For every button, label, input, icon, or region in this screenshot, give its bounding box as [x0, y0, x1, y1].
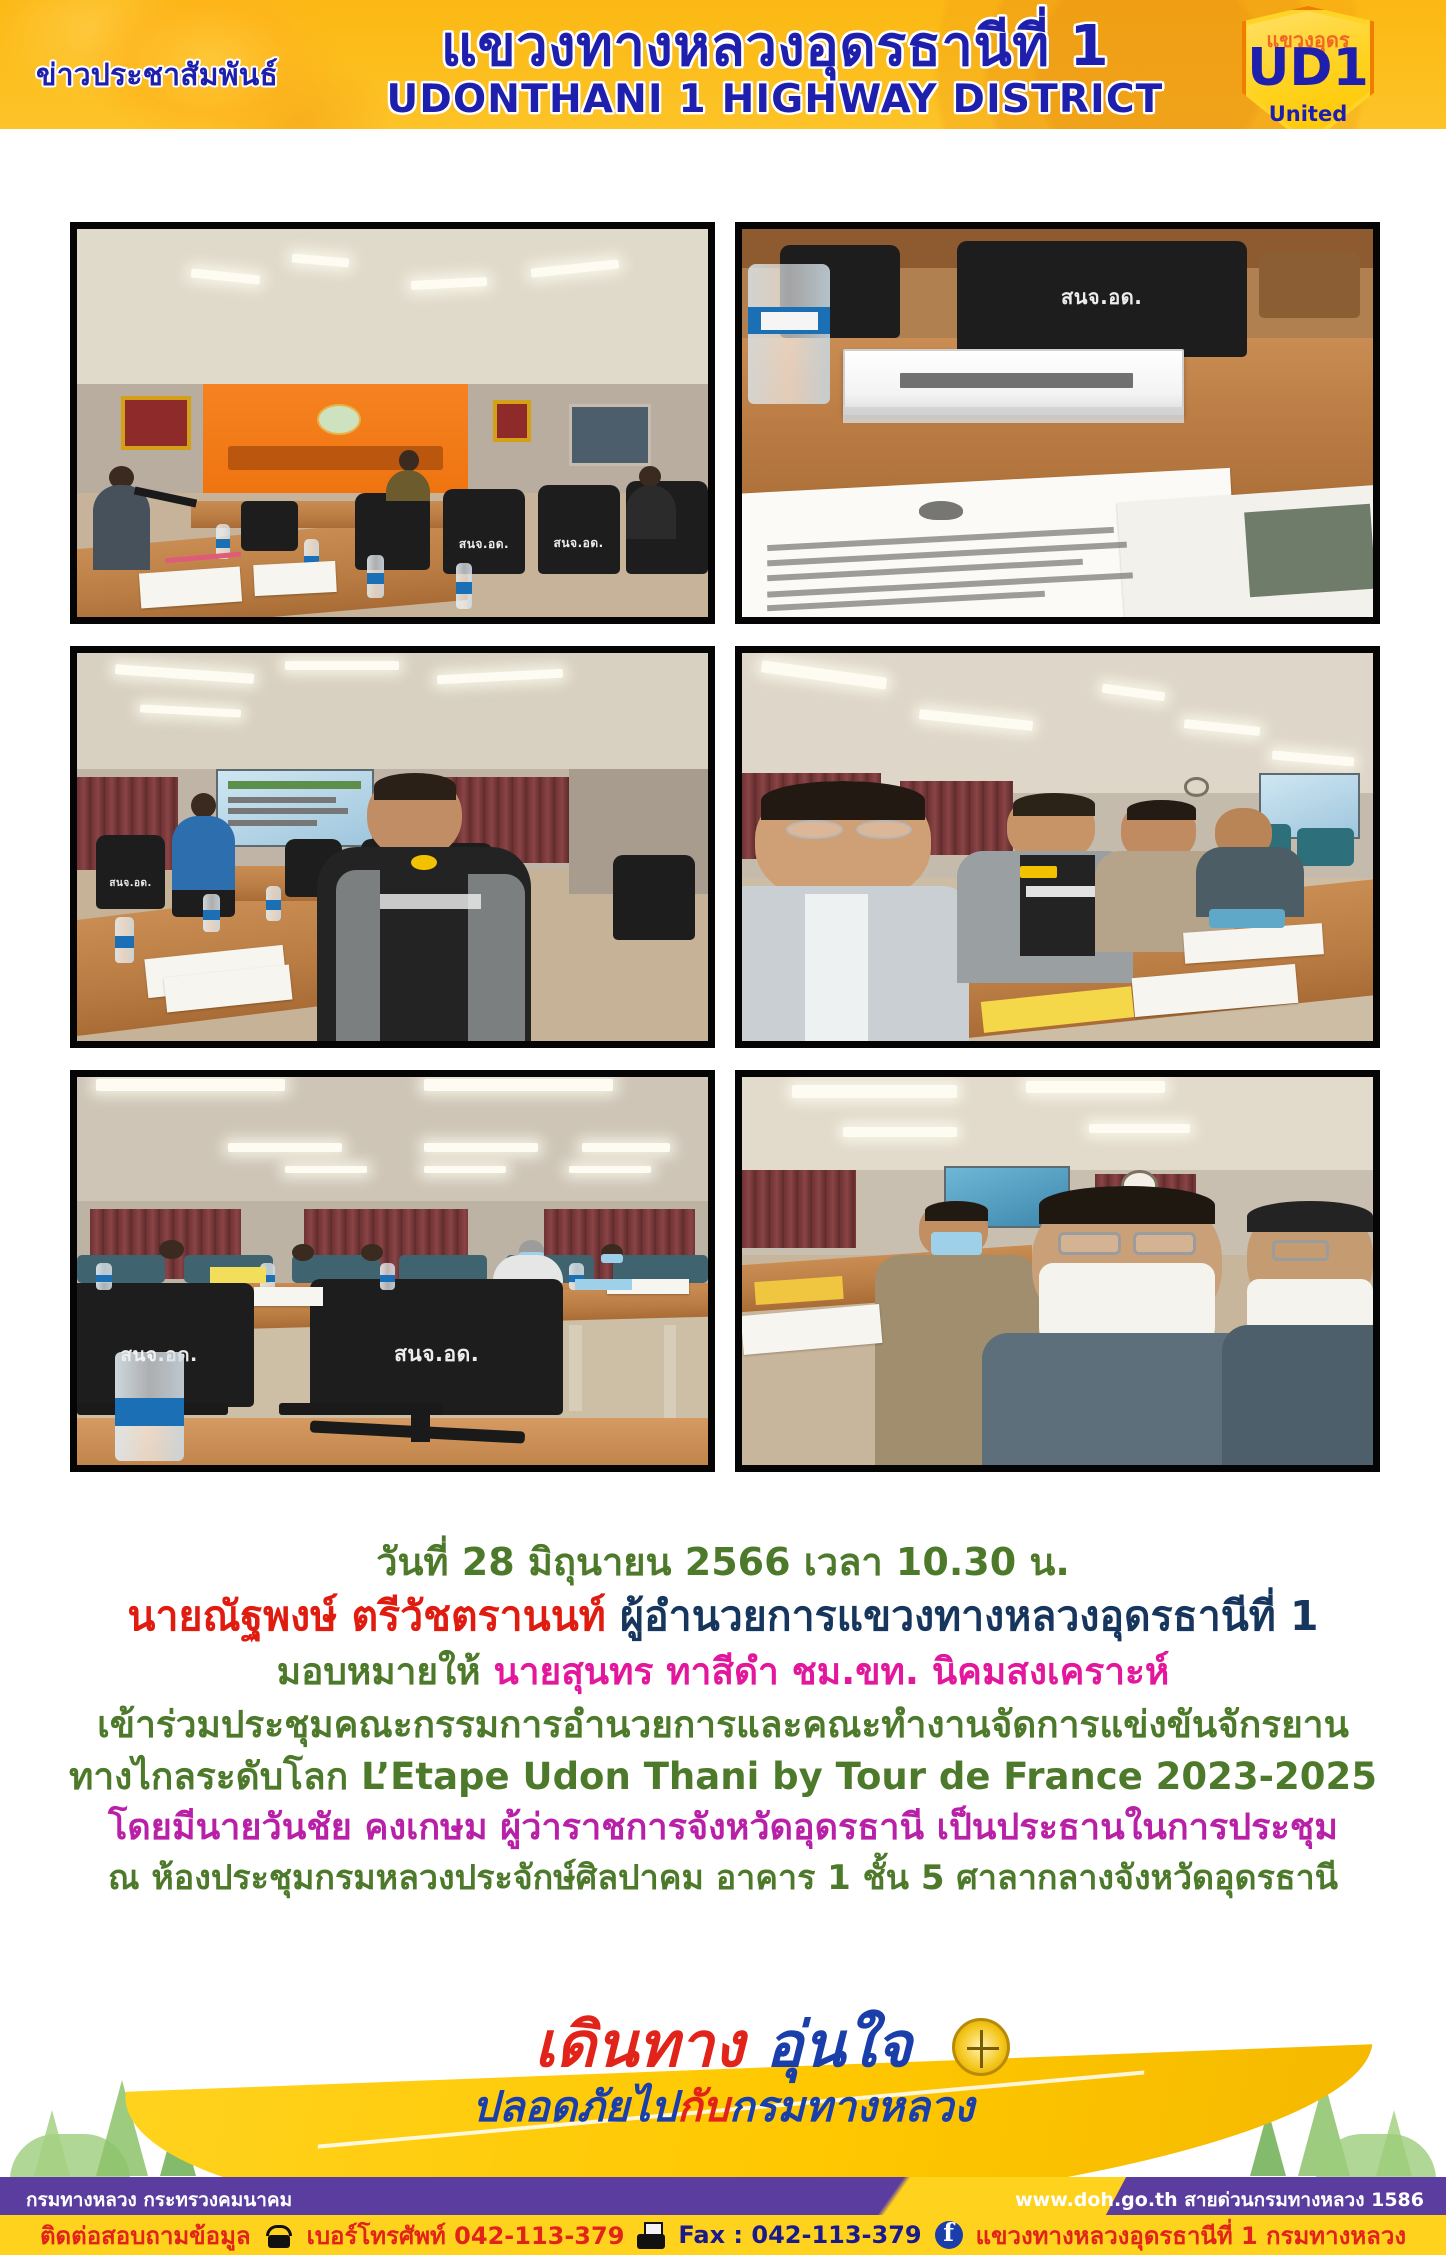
- announcement-director-line: นายณัฐพงษ์ ตรีวัชตรานนท์ ผู้อำนวยการแขวง…: [40, 1592, 1406, 1647]
- announcement-date-line: วันที่ 28 มิถุนายน 2566 เวลา 10.30 น.: [40, 1538, 1406, 1590]
- footer-website-hotline[interactable]: www.doh.go.th สายด่วนกรมทางหลวง 1586: [1015, 2185, 1424, 2215]
- photo-selfie-masked-officials: [735, 1070, 1380, 1472]
- slogan-banner: เดินทาง อุ่นใจ ปลอดภัยไปกับกรมทางหลวง: [0, 2000, 1446, 2182]
- footer-phone-number[interactable]: เบอร์โทรศัพท์ 042-113-379: [307, 2216, 625, 2255]
- logo-mid-text: UD1: [1242, 42, 1374, 94]
- logo-bottom-text: United: [1242, 102, 1374, 126]
- photo-1-scene: สนจ.อด. สนจ.อด.: [77, 229, 708, 617]
- photo-4-scene: [742, 653, 1373, 1041]
- photo-grid: สนจ.อด. สนจ.อด.: [70, 222, 1380, 1472]
- poster-root: ข่าวประชาสัมพันธ์ แขวงทางหลวงอุดรธานีที่…: [0, 0, 1446, 2255]
- header-banner: ข่าวประชาสัมพันธ์ แขวงทางหลวงอุดรธานีที่…: [0, 0, 1446, 140]
- photo-3-scene: สนจ.อด.: [77, 653, 708, 1041]
- photo-conference-hall-chairs: สนจ.อด. สนจ.อด.: [70, 1070, 715, 1472]
- footer-purple-bar: กรมทางหลวง กระทรวงคมนาคม www.doh.go.th ส…: [0, 2177, 1446, 2215]
- footer-contact-label: ติดต่อสอบถามข้อมูล: [40, 2216, 251, 2255]
- director-name: นายณัฐพงษ์ ตรีวัชตรานนท์: [127, 1592, 605, 1640]
- assignee-name: นายสุนทร ทาสีดำ ชม.ขท. นิคมสงเคราะห์: [493, 1650, 1169, 1693]
- footer-fax-number[interactable]: Fax : 042-113-379: [678, 2221, 921, 2249]
- photo-6-scene: [742, 1077, 1373, 1465]
- slogan-word-travel: เดินทาง: [534, 2008, 744, 2081]
- header-news-tag: ข่าวประชาสัมพันธ์: [36, 52, 278, 99]
- header-title-group: แขวงทางหลวงอุดรธานีที่ 1 UDONTHANI 1 HIG…: [380, 16, 1170, 121]
- udonthani-united-logo: แขวงอุดร UD1 United: [1242, 6, 1374, 140]
- announcement-text-block: วันที่ 28 มิถุนายน 2566 เวลา 10.30 น. นา…: [40, 1538, 1406, 1901]
- department-seal-icon: [952, 2018, 1010, 2076]
- director-title: ผู้อำนวยการแขวงทางหลวงอุดรธานีที่ 1: [620, 1592, 1319, 1640]
- announcement-chairperson-line: โดยมีนายวันชัย คงเกษม ผู้ว่าราชการจังหวั…: [40, 1806, 1406, 1855]
- footer-department-ministry: กรมทางหลวง กระทรวงคมนาคม: [26, 2185, 292, 2215]
- announcement-purpose-line-1: เข้าร่วมประชุมคณะกรรมการอำนวยการและคณะทำ…: [40, 1702, 1406, 1752]
- announcement-venue-line: ณ ห้องประชุมกรมหลวงประจักษ์ศิลปาคม อาคาร…: [40, 1857, 1406, 1901]
- slogan-sub-part-1: ปลอดภัยไป: [472, 2082, 677, 2131]
- photo-nameplate-and-documents: สนจ.อด.: [735, 222, 1380, 624]
- footer-contact-row: ติดต่อสอบถามข้อมูล เบอร์โทรศัพท์ 042-113…: [0, 2215, 1446, 2255]
- phone-icon: [264, 2222, 294, 2248]
- photo-group-selfie-participants: [735, 646, 1380, 1048]
- slogan-sub-line: ปลอดภัยไปกับกรมทางหลวง: [0, 2086, 1446, 2128]
- footer-yellow-bar: ติดต่อสอบถามข้อมูล เบอร์โทรศัพท์ 042-113…: [0, 2215, 1446, 2255]
- slogan-sub-part-2: กับ: [677, 2082, 729, 2131]
- slogan-main-line: เดินทาง อุ่นใจ: [0, 2014, 1446, 2076]
- footer-facebook-page[interactable]: แขวงทางหลวงอุดรธานีที่ 1 กรมทางหลวง: [976, 2216, 1406, 2255]
- photo-meeting-presentation: สนจ.อด.: [70, 646, 715, 1048]
- photo-2-scene: สนจ.อด.: [742, 229, 1373, 617]
- fax-icon: [637, 2222, 665, 2249]
- photo-5-scene: สนจ.อด. สนจ.อด.: [77, 1077, 708, 1465]
- slogan-word-comfort: อุ่นใจ: [766, 2008, 912, 2081]
- announcement-event-line: ทางไกลระดับโลก L’Etape Udon Thani by Tou…: [40, 1754, 1406, 1804]
- header-title-english: UDONTHANI 1 HIGHWAY DISTRICT: [380, 79, 1170, 121]
- facebook-icon[interactable]: [935, 2221, 963, 2249]
- photo-meeting-room-orange-wall: สนจ.อด. สนจ.อด.: [70, 222, 715, 624]
- header-title-thai: แขวงทางหลวงอุดรธานีที่ 1: [380, 16, 1170, 79]
- assign-verb: มอบหมายให้: [277, 1650, 481, 1693]
- announcement-assignee-line: มอบหมายให้ นายสุนทร ทาสีดำ ชม.ขท. นิคมสง…: [40, 1649, 1406, 1700]
- slogan-sub-part-3: กรมทางหลวง: [729, 2082, 974, 2131]
